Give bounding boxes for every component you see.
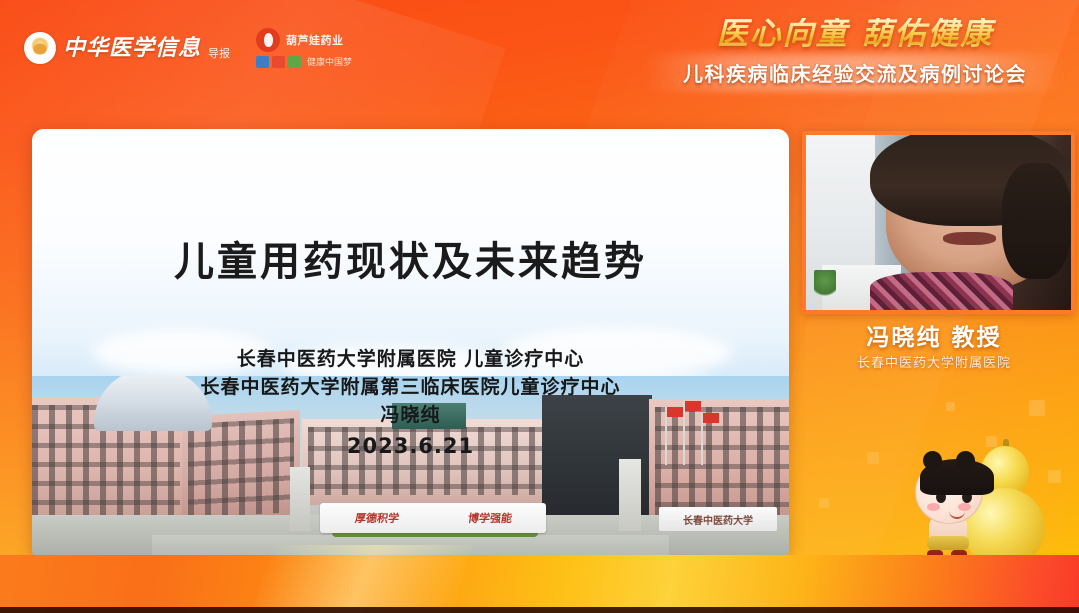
bottom-edge-bar — [0, 607, 1079, 613]
sponsor-chip-icon — [272, 56, 285, 68]
speaker-clothing — [870, 272, 1013, 311]
mascot-mouth — [949, 509, 965, 519]
video-plant — [814, 270, 836, 300]
confetti-square — [819, 498, 829, 508]
bottom-light-band — [0, 555, 1079, 613]
confetti-square — [946, 402, 955, 411]
speaker-name: 冯晓纯 教授 — [789, 318, 1079, 352]
sponsor-logo-bottom: 健康中国梦 — [256, 55, 352, 68]
slide-subtitle-lines: 长春中医药大学附属医院 儿童诊疗中心 长春中医药大学附属第三临床医院儿童诊疗中心… — [32, 345, 789, 462]
slide-line-2: 长春中医药大学附属第三临床医院儿童诊疗中心 — [32, 373, 789, 401]
header-logo-row: 中华医学信息 导报 葫芦娃药业 健康中国梦 — [24, 24, 352, 72]
slide-text-block: 儿童用药现状及未来趋势 长春中医药大学附属医院 儿童诊疗中心 长春中医药大学附属… — [32, 129, 789, 462]
gate-sign-text: 长春中医药大学 — [683, 512, 753, 527]
speaker-panel: 冯晓纯 教授 长春中医药大学附属医院 — [789, 0, 1079, 613]
primary-logo-suffix: 导报 — [208, 45, 230, 61]
sponsor-logo-tagline: 健康中国梦 — [307, 55, 352, 68]
primary-logo: 中华医学信息 导报 — [24, 32, 230, 64]
campus-monument-sign: 厚德积学 博学强能 — [320, 503, 546, 533]
confetti-square — [867, 452, 879, 464]
slide-line-1: 长春中医药大学附属医院 儿童诊疗中心 — [32, 345, 789, 373]
speaker-affiliation: 长春中医药大学附属医院 — [789, 352, 1079, 371]
campus-gate-pillar — [619, 459, 641, 531]
mascot-hair-bun — [956, 451, 975, 470]
speaker-hair-side — [1002, 163, 1071, 279]
speaker-video-feed — [806, 135, 1071, 310]
cma-seal-icon — [24, 32, 56, 64]
sponsor-chip-icon — [256, 56, 269, 68]
gourd-badge-icon — [256, 28, 280, 52]
sponsor-logo: 葫芦娃药业 健康中国梦 — [256, 28, 352, 68]
slide-title: 儿童用药现状及未来趋势 — [32, 229, 789, 287]
broadcast-stage: 中华医学信息 导报 葫芦娃药业 健康中国梦 医心向童 葫佑健康 儿科疾病临床经验… — [0, 0, 1079, 613]
speaker-video-tile[interactable] — [802, 131, 1075, 314]
speaker-mouth — [943, 232, 995, 246]
confetti-square — [1029, 400, 1045, 416]
sponsor-logo-top: 葫芦娃药业 — [256, 28, 352, 52]
mascot-character — [907, 454, 993, 570]
slide-date: 2023.6.21 — [32, 431, 789, 462]
mascot-cheek — [927, 503, 940, 511]
slide-presenter-name: 冯晓纯 — [32, 401, 789, 429]
mascot-leaf-skirt — [927, 536, 969, 550]
monument-text-left: 厚德积学 — [353, 510, 399, 526]
campus-gate-sign: 长春中医药大学 — [659, 507, 777, 531]
campus-gate-pillar — [290, 467, 310, 531]
monument-text-right: 博学强能 — [466, 510, 512, 526]
mascot-hair-bun — [923, 451, 942, 470]
primary-logo-wordmark: 中华医学信息 — [63, 37, 201, 59]
sponsor-chip-icon — [288, 56, 301, 68]
mascot-head — [915, 460, 983, 524]
sponsor-logo-name: 葫芦娃药业 — [286, 32, 344, 48]
presentation-slide[interactable]: 厚德积学 博学强能 长春中医药大学 儿童用药现状及未来趋势 长春中医药大学附属医… — [32, 129, 789, 561]
